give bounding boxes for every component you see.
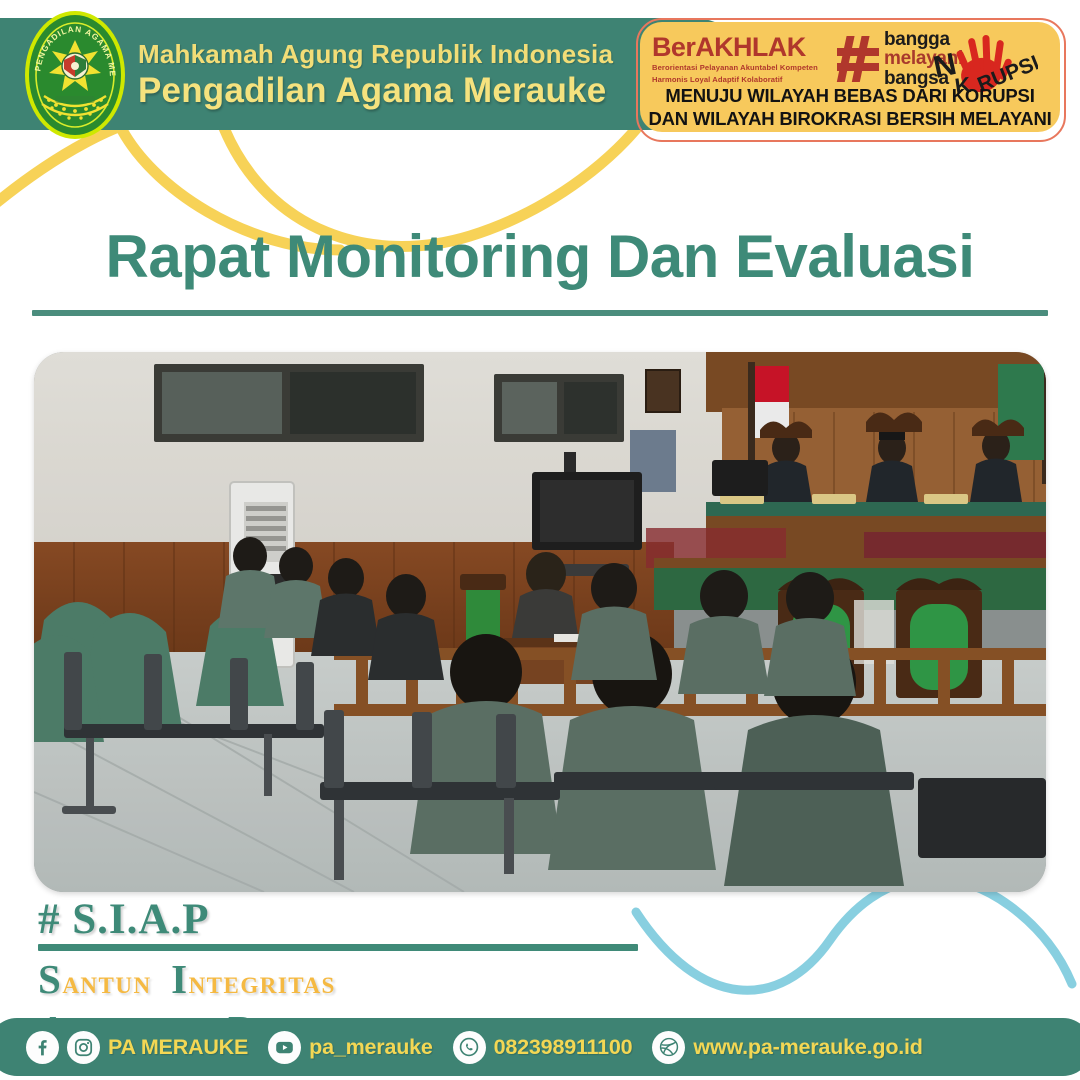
footer-website-label[interactable]: www.pa-merauke.go.id	[693, 1035, 922, 1060]
whatsapp-icon[interactable]	[453, 1031, 486, 1064]
instagram-icon[interactable]	[67, 1031, 100, 1064]
footer-youtube-label[interactable]: pa_merauke	[309, 1035, 433, 1060]
siap-word-santun: antun	[62, 965, 151, 1001]
footer-instagram-label[interactable]: PA MERAUKE	[108, 1035, 248, 1060]
page-title: Rapat Monitoring Dan Evaluasi	[0, 222, 1080, 291]
footer-whatsapp-label[interactable]: 082398911100	[494, 1035, 633, 1060]
header-line-1: Mahkamah Agung Republik Indonesia	[138, 40, 738, 69]
globe-icon[interactable]	[652, 1031, 685, 1064]
header-title-block: Mahkamah Agung Republik Indonesia Pengad…	[138, 28, 738, 124]
siap-cap-s: S	[38, 956, 62, 1002]
siap-line-1: Santun Integritas	[38, 957, 638, 1002]
youtube-icon[interactable]	[268, 1031, 301, 1064]
siap-word-integritas: ntegritas	[189, 965, 336, 1001]
footer-bar: PA MERAUKE pa_merauke 082398911100	[0, 1018, 1080, 1076]
hashtag-icon	[836, 34, 880, 84]
poster-canvas: PENGADILAN AGAMA MERAUKE Mahk	[0, 0, 1080, 1080]
court-seal-icon: PENGADILAN AGAMA MERAUKE	[22, 8, 128, 142]
facebook-icon[interactable]	[26, 1031, 59, 1064]
header-line-2: Pengadilan Agama Merauke	[138, 71, 738, 111]
event-photo	[34, 352, 1046, 892]
siap-cap-i: I	[171, 956, 188, 1002]
title-divider	[32, 310, 1048, 316]
siap-divider	[38, 944, 638, 951]
siap-hash-title: # S.I.A.P	[38, 898, 638, 941]
